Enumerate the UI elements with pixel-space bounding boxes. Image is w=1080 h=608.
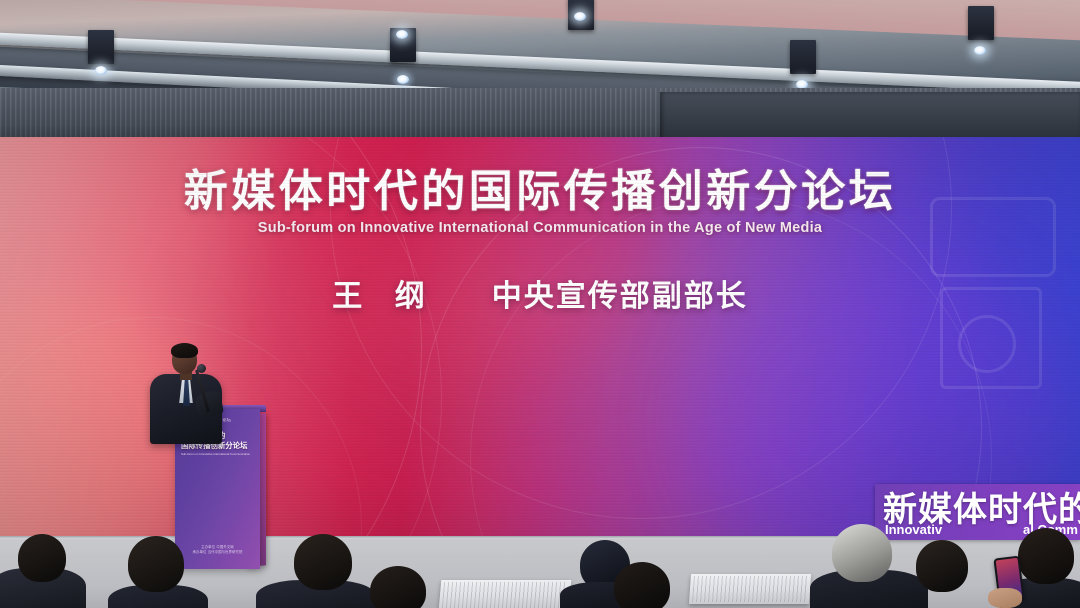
laptop-keyboard — [692, 576, 808, 602]
audience-member-head-gray — [832, 524, 892, 582]
hand-holding-phone — [988, 588, 1022, 608]
led-backdrop-screen: 新媒体时代的国际传播创新分论坛 Sub-forum on Innovative … — [0, 137, 1080, 541]
audience-member-head — [916, 540, 968, 592]
audience-member-head — [1018, 528, 1074, 584]
spotlight-icon — [974, 46, 986, 55]
podium-title-en: Sub-forum on Innovative International Co… — [181, 453, 254, 456]
podium-footer-text: 主办单位 中国外文局 承办单位 当代中国与世界研究院 — [183, 545, 252, 555]
light-bracket — [790, 40, 816, 74]
ceiling — [0, 0, 1080, 100]
microphone-icon — [197, 364, 206, 373]
laptop-device — [439, 580, 572, 608]
led-pixel-texture — [0, 137, 1080, 541]
laptop-device — [689, 574, 811, 604]
screenshot-root: 新媒体时代的国际传播创新分论坛 Sub-forum on Innovative … — [0, 0, 1080, 608]
speaker-arm — [194, 390, 224, 418]
side-banner-title-en-part1: Innovativ — [885, 522, 942, 537]
spotlight-icon — [95, 66, 107, 75]
spotlight-icon — [397, 75, 409, 84]
audience-member-head — [370, 566, 426, 608]
podium-footer-line2: 承办单位 当代中国与世界研究院 — [183, 550, 252, 555]
light-bracket — [88, 30, 114, 64]
audience-member-head — [614, 562, 670, 608]
speaker-hair — [171, 343, 198, 358]
light-bracket — [968, 6, 994, 40]
audience-member-head — [294, 534, 352, 590]
wall-dark-section — [660, 92, 1080, 140]
wall-above-screen — [0, 88, 1080, 140]
spotlight-icon — [396, 30, 408, 39]
audience-member-head — [18, 534, 66, 582]
audience-member-head — [128, 536, 184, 592]
laptop-keyboard — [442, 582, 568, 608]
spotlight-icon — [574, 12, 586, 21]
ceiling-warm-panel — [0, 0, 1080, 44]
